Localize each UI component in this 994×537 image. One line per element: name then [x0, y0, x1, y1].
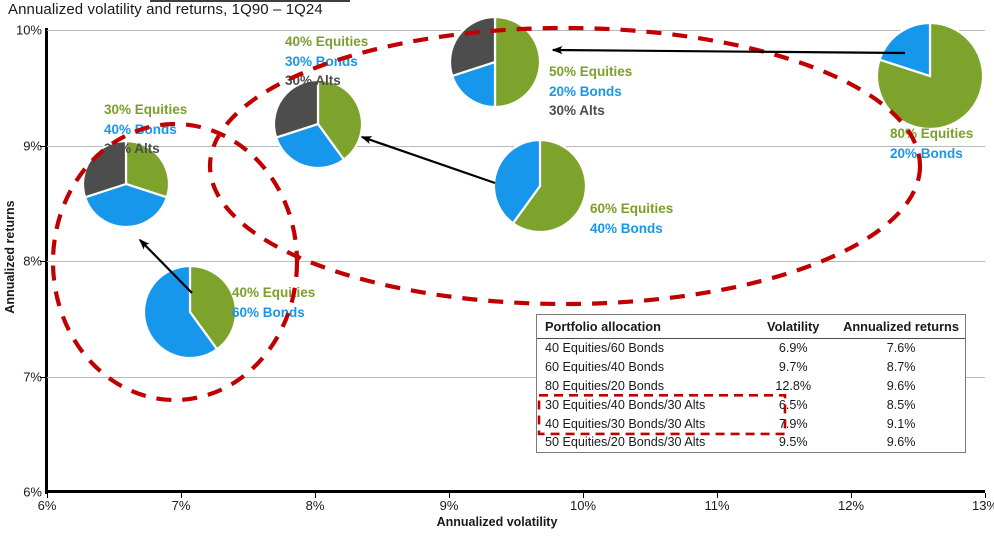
- pie-slice: [495, 17, 540, 107]
- callout-40-30-30-line-2: 30% Alts: [285, 71, 368, 91]
- x-tickmark-12: [851, 493, 852, 498]
- callout-30-40-30: 30% Equities40% Bonds30% Alts: [104, 100, 187, 159]
- col-volatility: Volatility: [749, 315, 835, 339]
- table-cell: 9.6%: [835, 433, 965, 452]
- callout-40-30-30-line-0: 40% Equities: [285, 32, 368, 52]
- table-cell: 7.9%: [749, 414, 835, 433]
- x-tick-12: 12%: [821, 498, 881, 513]
- table-header-row: Portfolio allocation Volatility Annualiz…: [537, 315, 965, 339]
- callout-60-40-line-0: 60% Equities: [590, 199, 673, 219]
- callout-40-30-30-line-1: 30% Bonds: [285, 52, 368, 72]
- table-cell: 6.9%: [749, 339, 835, 358]
- pie-60-40: [492, 138, 588, 234]
- x-axis-title: Annualized volatility: [0, 515, 994, 529]
- gridline-8: [47, 261, 985, 262]
- table: Portfolio allocation Volatility Annualiz…: [537, 315, 965, 452]
- col-annualized-returns: Annualized returns: [835, 315, 965, 339]
- table-row: 50 Equities/20 Bonds/30 Alts9.5%9.6%: [537, 433, 965, 452]
- table-cell: 9.1%: [835, 414, 965, 433]
- y-tickmark-8: [40, 261, 46, 262]
- table-row: 40 Equities/60 Bonds6.9%7.6%: [537, 339, 965, 358]
- y-tick-9: 9%: [0, 138, 42, 153]
- table-row: 60 Equities/40 Bonds9.7%8.7%: [537, 358, 965, 377]
- callout-40-60-line-1: 60% Bonds: [232, 303, 315, 323]
- table-cell: 60 Equities/40 Bonds: [537, 358, 749, 377]
- y-tick-10: 10%: [0, 23, 42, 38]
- table-cell: 9.6%: [835, 377, 965, 396]
- table-cell: 9.7%: [749, 358, 835, 377]
- x-tick-10: 10%: [553, 498, 613, 513]
- x-tickmark-13: [985, 493, 986, 498]
- x-tickmark-10: [583, 493, 584, 498]
- portfolio-allocation-table: Portfolio allocation Volatility Annualiz…: [536, 314, 966, 453]
- table-cell: 8.5%: [835, 395, 965, 414]
- table-cell: 50 Equities/20 Bonds/30 Alts: [537, 433, 749, 452]
- callout-40-60-line-0: 40% Equities: [232, 283, 315, 303]
- x-tickmark-11: [717, 493, 718, 498]
- callout-40-30-30: 40% Equities30% Bonds30% Alts: [285, 32, 368, 91]
- table-cell: 6.5%: [749, 395, 835, 414]
- callout-30-40-30-line-2: 30% Alts: [104, 139, 187, 159]
- callout-50-20-30: 50% Equities20% Bonds30% Alts: [549, 62, 632, 121]
- callout-50-20-30-line-0: 50% Equities: [549, 62, 632, 82]
- y-axis-title: Annualized returns: [3, 157, 17, 357]
- table-cell: 40 Equities/60 Bonds: [537, 339, 749, 358]
- x-tick-11: 11%: [687, 498, 747, 513]
- y-tickmark-9: [40, 146, 46, 147]
- callout-80-20-line-0: 80% Equities: [890, 124, 973, 144]
- callout-50-20-30-line-1: 20% Bonds: [549, 82, 632, 102]
- pie-50-20-30: [448, 15, 542, 109]
- table-row: 40 Equities/30 Bonds/30 Alts7.9%9.1%: [537, 414, 965, 433]
- x-tick-9: 9%: [419, 498, 479, 513]
- y-axis-title-wrapper: Annualized returns: [2, 170, 18, 330]
- x-tickmark-7: [181, 493, 182, 498]
- table-row: 80 Equities/20 Bonds12.8%9.6%: [537, 377, 965, 396]
- x-tickmark-9: [449, 493, 450, 498]
- table-cell: 40 Equities/30 Bonds/30 Alts: [537, 414, 749, 433]
- y-tickmark-7: [40, 377, 46, 378]
- callout-50-20-30-line-2: 30% Alts: [549, 101, 632, 121]
- y-tick-7: 7%: [0, 369, 42, 384]
- table-cell: 12.8%: [749, 377, 835, 396]
- callout-30-40-30-line-0: 30% Equities: [104, 100, 187, 120]
- table-cell: 80 Equities/20 Bonds: [537, 377, 749, 396]
- callout-80-20: 80% Equities20% Bonds: [890, 124, 973, 163]
- pie-40-60: [142, 264, 238, 360]
- chart-title: Annualized volatility and returns, 1Q90 …: [8, 1, 323, 18]
- x-tick-8: 8%: [285, 498, 345, 513]
- callout-60-40: 60% Equities40% Bonds: [590, 199, 673, 238]
- table-row: 30 Equities/40 Bonds/30 Alts6.5%8.5%: [537, 395, 965, 414]
- x-tick-6: 6%: [17, 498, 77, 513]
- table-cell: 9.5%: [749, 433, 835, 452]
- callout-40-60: 40% Equities60% Bonds: [232, 283, 315, 322]
- x-tick-13: 13%: [955, 498, 994, 513]
- x-tickmark-8: [315, 493, 316, 498]
- table-cell: 8.7%: [835, 358, 965, 377]
- pie-40-30-30: [272, 78, 364, 170]
- table-cell: 7.6%: [835, 339, 965, 358]
- table-body: 40 Equities/60 Bonds6.9%7.6%60 Equities/…: [537, 339, 965, 452]
- callout-30-40-30-line-1: 40% Bonds: [104, 120, 187, 140]
- x-tickmark-6: [47, 493, 48, 498]
- pie-80-20: [875, 21, 985, 131]
- x-tick-7: 7%: [151, 498, 211, 513]
- table-cell: 30 Equities/40 Bonds/30 Alts: [537, 395, 749, 414]
- callout-60-40-line-1: 40% Bonds: [590, 219, 673, 239]
- col-portfolio-allocation: Portfolio allocation: [537, 315, 749, 339]
- callout-80-20-line-1: 20% Bonds: [890, 144, 973, 164]
